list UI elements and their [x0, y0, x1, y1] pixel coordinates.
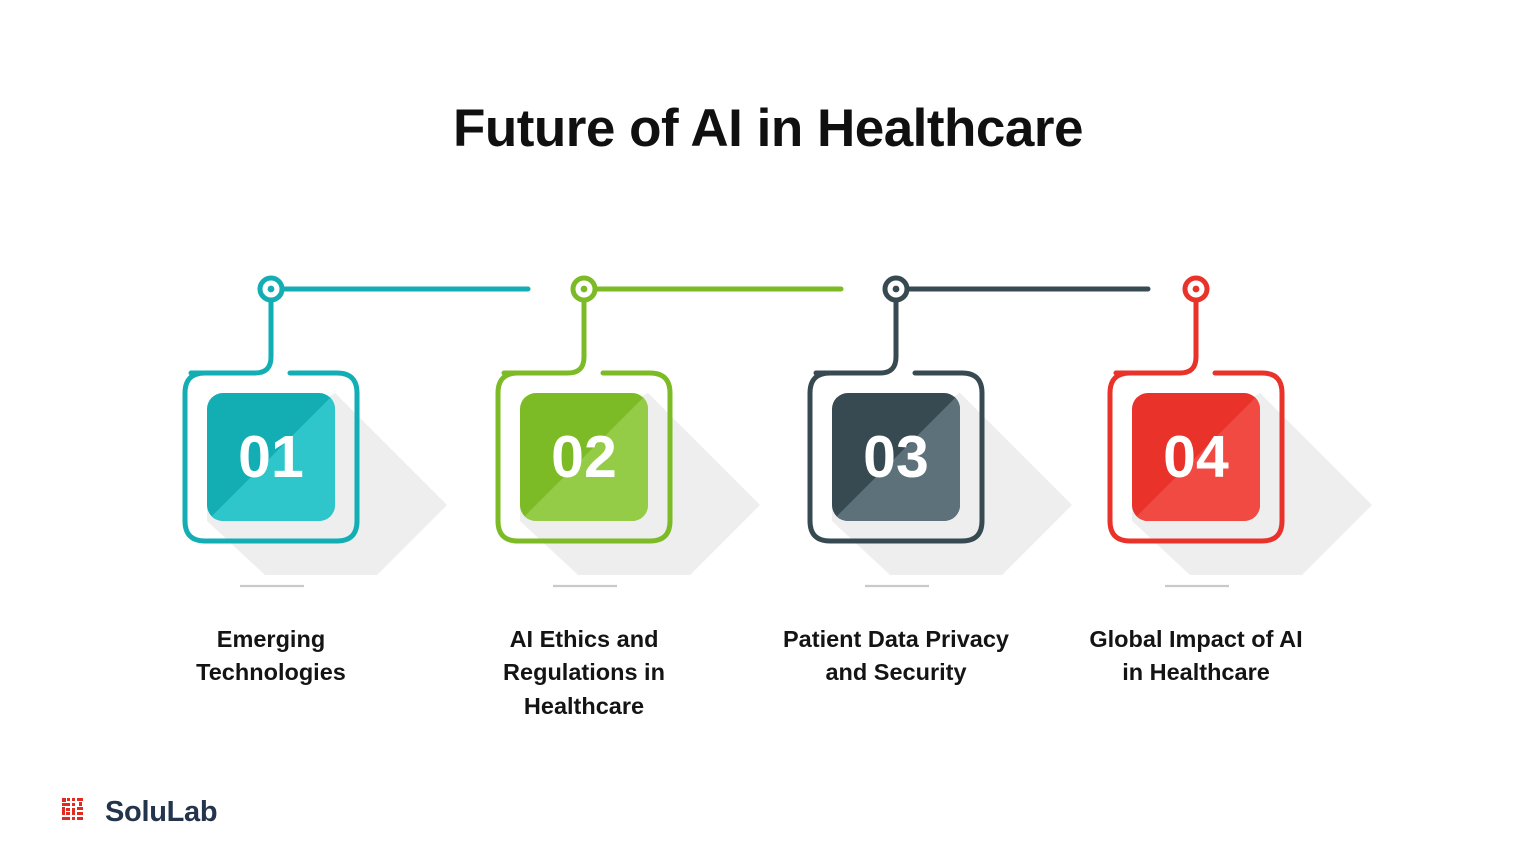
step-item-4[interactable]: 04 — [1110, 278, 1372, 586]
infographic-canvas: Future of AI in Healthcare — [0, 0, 1536, 864]
step-item-2[interactable]: 02 — [498, 278, 841, 586]
connector-drop-2 — [504, 300, 584, 373]
step-item-3[interactable]: 03 — [810, 278, 1148, 586]
brand-logo[interactable]: SoluLab — [60, 795, 217, 829]
connector-node-dot-4 — [1193, 286, 1200, 293]
connector-node-dot-3 — [893, 286, 900, 293]
brand-logo-text: SoluLab — [105, 796, 217, 829]
step-label-4: Global Impact of AI in Healthcare — [1076, 623, 1316, 690]
step-item-1[interactable]: 01 — [185, 278, 528, 586]
card-number-3: 03 — [863, 424, 929, 490]
connector-node-dot-2 — [581, 286, 588, 293]
step-label-1: Emerging Technologies — [166, 623, 376, 690]
card-number-4: 04 — [1163, 424, 1229, 490]
step-label-3: Patient Data Privacy and Security — [761, 623, 1031, 690]
step-label-2: AI Ethics and Regulations in Healthcare — [479, 623, 689, 723]
connector-drop-4 — [1116, 300, 1196, 373]
connector-drop-1 — [191, 300, 271, 373]
card-number-2: 02 — [551, 424, 617, 490]
connector-node-dot-1 — [268, 286, 275, 293]
solulab-mark-icon — [60, 795, 94, 829]
connector-drop-3 — [816, 300, 896, 373]
steps-graphics: 01 02 — [0, 0, 1536, 864]
card-number-1: 01 — [238, 424, 304, 490]
